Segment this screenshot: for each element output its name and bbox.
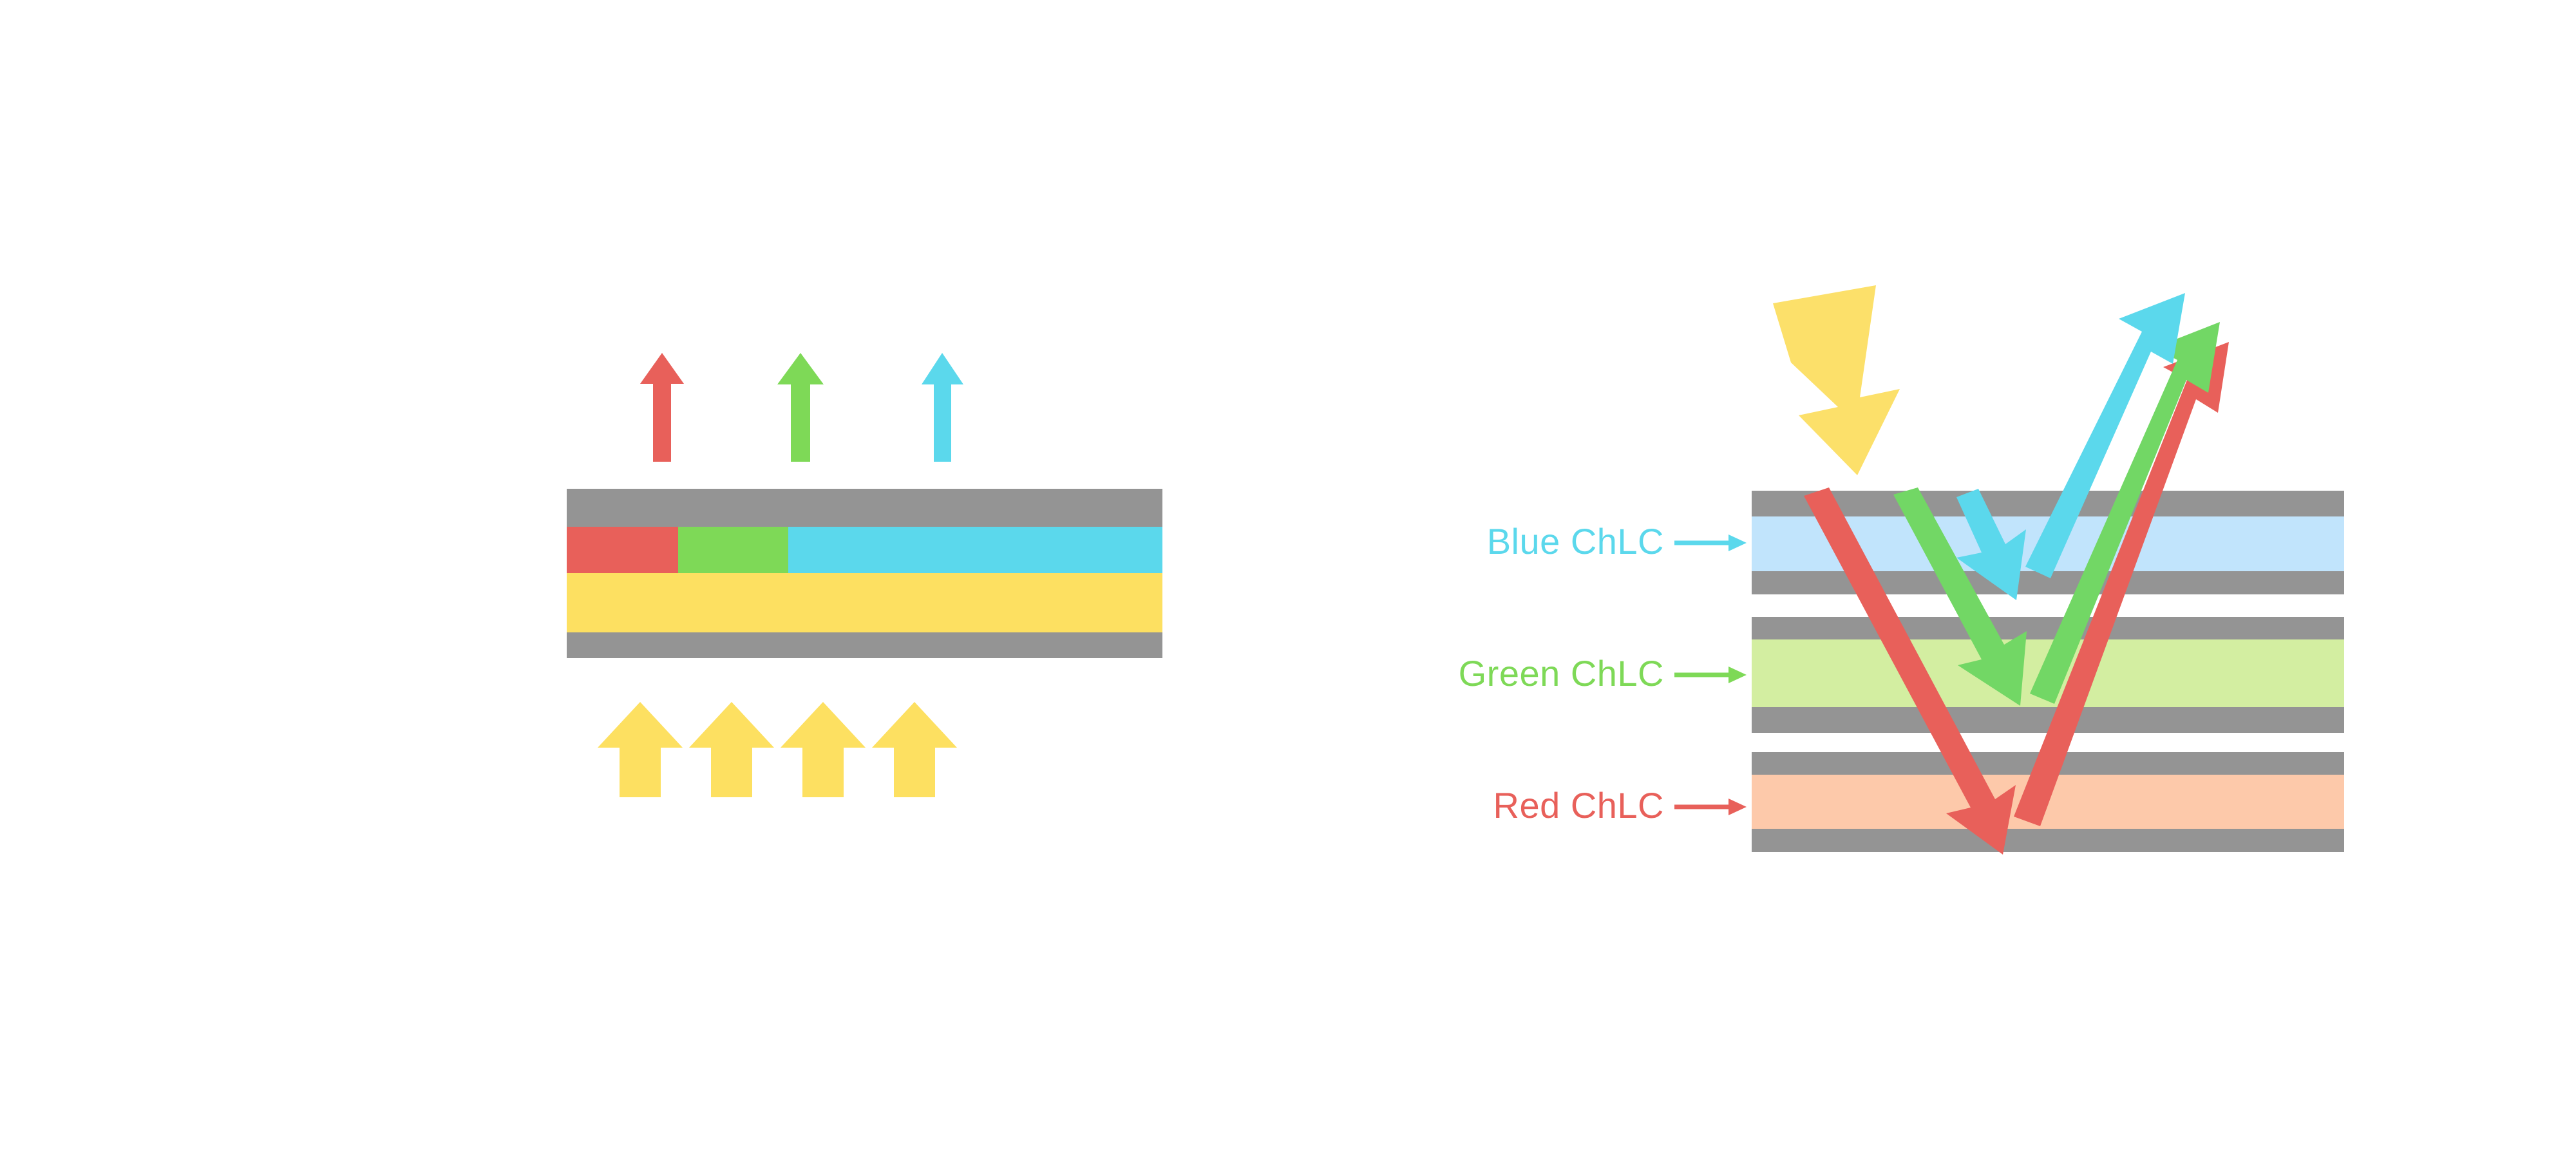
- left-bottom-electrode: [567, 632, 1162, 658]
- left-color-filter-red: [567, 527, 678, 573]
- left-color-filter-blue: [788, 527, 1162, 573]
- figure-root: Blue ChLC Green ChLC Red ChLC: [0, 0, 2576, 1154]
- left-color-filter-green: [678, 527, 788, 573]
- green-cell-bottom-electrode: [1752, 707, 2344, 733]
- green-chlc-label: Green ChLC: [1459, 653, 1664, 694]
- left-backlight-layer: [567, 573, 1162, 632]
- red-chlc-label: Red ChLC: [1493, 785, 1664, 826]
- green-cell-top-electrode: [1752, 617, 2344, 639]
- left-stack: [567, 489, 1162, 658]
- blue-chlc-label: Blue ChLC: [1487, 521, 1664, 562]
- red-cell-bottom-electrode: [1752, 829, 2344, 852]
- left-top-electrode: [567, 489, 1162, 527]
- diagram-canvas: Blue ChLC Green ChLC Red ChLC: [0, 0, 2576, 1154]
